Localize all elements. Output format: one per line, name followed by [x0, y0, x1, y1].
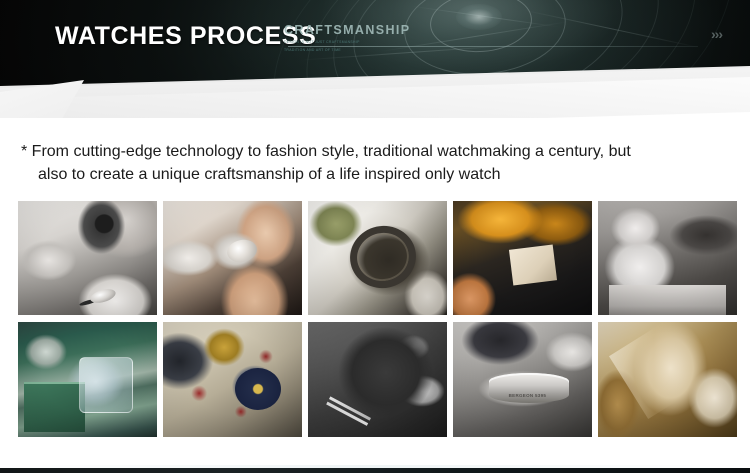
header-banner: WATCHES PROCESS CRAFTSMANSHIP DESIGN IS …	[0, 0, 750, 118]
gallery-photo-8[interactable]	[308, 322, 447, 437]
plate-hole	[549, 256, 555, 262]
gallery-photo-7[interactable]	[163, 322, 302, 437]
plate-hole	[520, 260, 526, 266]
photo-vignette	[18, 201, 157, 315]
photo-vignette	[453, 201, 592, 315]
photo-vignette	[308, 322, 447, 437]
intro-paragraph-line-1: * From cutting-edge technology to fashio…	[21, 143, 631, 160]
photo-vignette	[308, 201, 447, 315]
photo-vignette	[598, 201, 737, 315]
gallery-photo-10[interactable]	[598, 322, 737, 437]
photo-vignette	[163, 322, 302, 437]
lathe-control-panel	[24, 382, 85, 432]
gallery-photo-6[interactable]	[18, 322, 157, 437]
gallery-photo-2[interactable]	[163, 201, 302, 315]
gallery-photo-9[interactable]: BERGEON 5395	[453, 322, 592, 437]
photo-vignette	[453, 322, 592, 437]
photo-vignette	[598, 322, 737, 437]
gallery-photo-3[interactable]	[308, 201, 447, 315]
gallery-photo-5[interactable]	[598, 201, 737, 315]
ribbon-layer-middle	[0, 0, 750, 118]
gallery-photo-4[interactable]	[453, 201, 592, 315]
header-ribbon-decoration	[0, 0, 750, 118]
footer-strip	[0, 468, 750, 473]
intro-paragraph: * From cutting-edge technology to fashio…	[21, 140, 721, 186]
case-engraving-text: BERGEON 5395	[509, 393, 547, 398]
gallery-photo-1[interactable]	[18, 201, 157, 315]
intro-paragraph-line-2: also to create a unique craftsmanship of…	[21, 163, 721, 186]
photo-vignette	[163, 201, 302, 315]
photo-gallery-grid: BERGEON 5395	[18, 201, 735, 437]
slide-canvas: WATCHES PROCESS CRAFTSMANSHIP DESIGN IS …	[0, 0, 750, 473]
